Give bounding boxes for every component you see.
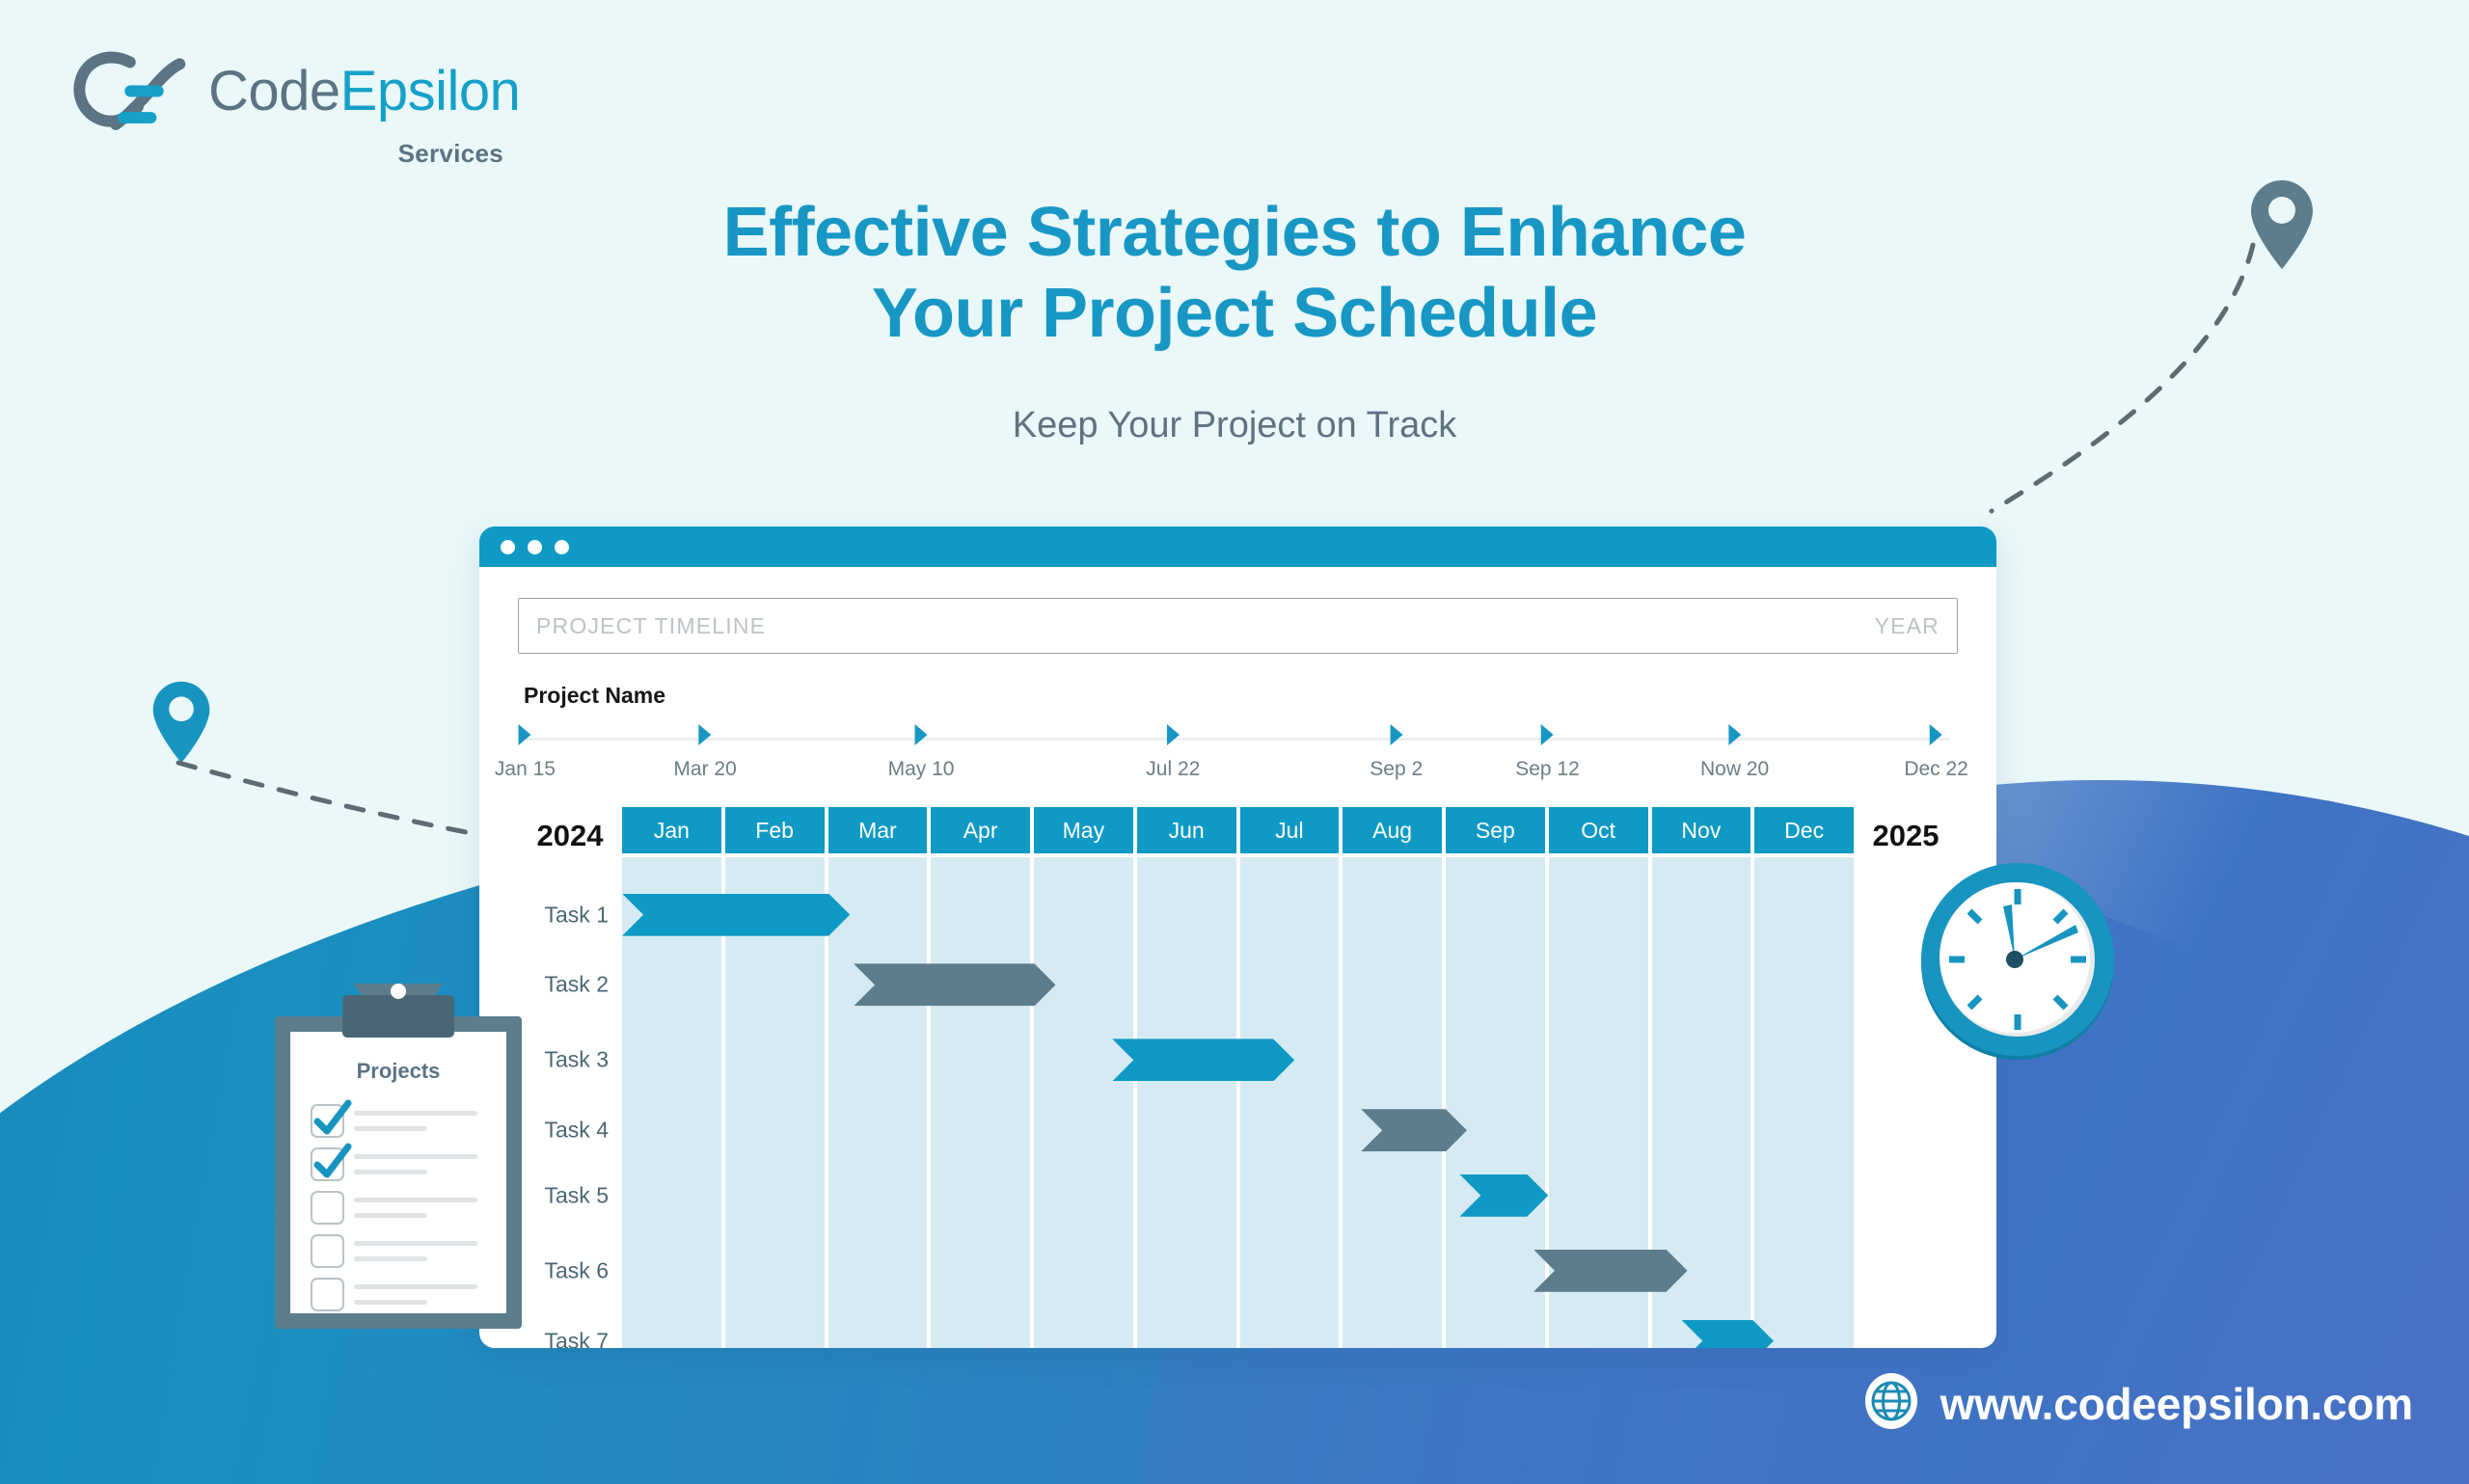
clipboard-line — [354, 1256, 427, 1261]
milestone-flag-icon — [1930, 724, 1942, 745]
month-cell-aug[interactable]: Aug — [1343, 807, 1442, 853]
milestone-marker[interactable]: Mar 20 — [673, 724, 736, 781]
footer: www.codeepsilon.com — [1863, 1373, 2413, 1434]
milestone-label: Dec 22 — [1904, 758, 1968, 781]
milestone-label: May 10 — [888, 758, 955, 781]
clipboard-title: Projects — [357, 1059, 441, 1083]
milestone-label: Mar 20 — [673, 758, 736, 781]
year-placeholder: YEAR — [1875, 613, 1940, 639]
gantt-plot — [622, 857, 1854, 1348]
task-label-task-1: Task 1 — [545, 902, 609, 928]
maximize-dot-icon[interactable] — [555, 540, 569, 554]
gantt-plot-area: JanFebMarAprMayJunJulAugSepOctNovDec — [622, 807, 1854, 1348]
milestone-flag-icon — [915, 724, 928, 745]
gantt-bar-task-1[interactable] — [622, 894, 850, 936]
brand-name-epsilon: Epsilon — [340, 60, 521, 122]
gantt-bars — [622, 857, 1854, 1348]
task-label-task-3: Task 3 — [545, 1047, 609, 1073]
project-timeline-placeholder: PROJECT TIMELINE — [536, 613, 766, 639]
ce-monogram-icon — [60, 46, 195, 135]
clipboard-checkbox[interactable] — [312, 1279, 343, 1310]
month-cell-apr[interactable]: Apr — [931, 807, 1030, 853]
browser-window: PROJECT TIMELINE YEAR Project Name Jan 1… — [479, 526, 1996, 1348]
year-label-left: 2024 — [518, 807, 622, 853]
month-cell-jan[interactable]: Jan — [622, 807, 721, 853]
milestone-label: Jul 22 — [1146, 758, 1200, 781]
gantt-bar-task-5[interactable] — [1459, 1174, 1548, 1217]
brand-tagline: Services — [60, 139, 503, 169]
clipboard-icon: Projects — [269, 982, 528, 1341]
month-cell-mar[interactable]: Mar — [828, 807, 928, 853]
dashed-path-left — [169, 747, 516, 873]
milestone-marker[interactable]: Now 20 — [1700, 724, 1769, 781]
month-cell-dec[interactable]: Dec — [1754, 807, 1854, 853]
month-cell-jul[interactable]: Jul — [1240, 807, 1340, 853]
gantt-bar-task-3[interactable] — [1112, 1039, 1294, 1081]
gantt-bar-task-4[interactable] — [1361, 1109, 1467, 1151]
milestone-label: Sep 12 — [1515, 758, 1580, 781]
clipboard-line — [354, 1241, 477, 1246]
milestone-marker[interactable]: Dec 22 — [1904, 724, 1968, 781]
milestone-marker[interactable]: Jul 22 — [1146, 724, 1200, 781]
month-cell-nov[interactable]: Nov — [1652, 807, 1751, 853]
year-label-right: 2025 — [1854, 807, 1958, 853]
close-dot-icon[interactable] — [501, 540, 515, 554]
task-label-task-2: Task 2 — [545, 972, 609, 998]
milestone-ruler: Jan 15Mar 20May 10Jul 22Sep 2Sep 12Now 2… — [518, 718, 1958, 790]
clipboard-line — [354, 1170, 427, 1174]
clipboard-line — [354, 1154, 477, 1159]
task-label-task-7: Task 7 — [545, 1328, 609, 1348]
globe-icon — [1863, 1373, 1919, 1434]
brand-logo: CodeEpsilon Services — [60, 46, 561, 169]
month-header-row: JanFebMarAprMayJunJulAugSepOctNovDec — [622, 807, 1854, 853]
clock-icon — [1914, 858, 2121, 1069]
task-label-task-6: Task 6 — [545, 1257, 609, 1283]
clipboard-line — [354, 1284, 477, 1289]
milestone-flag-icon — [1541, 724, 1554, 745]
milestone-flag-icon — [1728, 724, 1741, 745]
dashed-path-top-right — [1982, 222, 2271, 540]
task-label-task-4: Task 4 — [545, 1118, 609, 1144]
window-titlebar — [479, 526, 1996, 567]
milestone-label: Jan 15 — [495, 758, 556, 781]
month-cell-feb[interactable]: Feb — [725, 807, 825, 853]
gantt-bar-task-2[interactable] — [854, 963, 1055, 1006]
milestone-marker[interactable]: Sep 2 — [1370, 724, 1423, 781]
gantt-bar-task-6[interactable] — [1533, 1250, 1688, 1292]
clipboard-line — [354, 1111, 477, 1116]
brand-name-code: Code — [208, 60, 340, 122]
task-label-task-5: Task 5 — [545, 1182, 609, 1208]
month-cell-oct[interactable]: Oct — [1549, 807, 1648, 853]
milestone-flag-icon — [519, 724, 531, 745]
clipboard-line — [354, 1213, 427, 1218]
clipboard-checkbox[interactable] — [312, 1235, 343, 1267]
milestone-flag-icon — [1167, 724, 1180, 745]
month-cell-sep[interactable]: Sep — [1446, 807, 1545, 853]
clipboard-line — [354, 1126, 427, 1131]
project-name-label: Project Name — [524, 683, 1958, 709]
gantt-bar-task-7[interactable] — [1681, 1320, 1774, 1348]
task-label-column: Task 1Task 2Task 3Task 4Task 5Task 6Task… — [518, 857, 622, 1348]
project-timeline-field[interactable]: PROJECT TIMELINE YEAR — [518, 598, 1958, 654]
website-url[interactable]: www.codeepsilon.com — [1940, 1378, 2413, 1430]
milestone-flag-icon — [1390, 724, 1402, 745]
clipboard-line — [354, 1300, 427, 1305]
milestone-label: Sep 2 — [1370, 758, 1423, 781]
milestone-marker[interactable]: Sep 12 — [1515, 724, 1580, 781]
milestone-flag-icon — [699, 724, 712, 745]
milestone-marker[interactable]: May 10 — [888, 724, 955, 781]
milestone-label: Now 20 — [1700, 758, 1769, 781]
clipboard-checkbox[interactable] — [312, 1192, 343, 1224]
month-cell-jun[interactable]: Jun — [1137, 807, 1236, 853]
minimize-dot-icon[interactable] — [528, 540, 542, 554]
clipboard-line — [354, 1198, 477, 1202]
gantt-chart: 2024 JanFebMarAprMayJunJulAugSepOctNovDe… — [518, 807, 1958, 1348]
milestone-marker[interactable]: Jan 15 — [495, 724, 556, 781]
month-cell-may[interactable]: May — [1034, 807, 1133, 853]
